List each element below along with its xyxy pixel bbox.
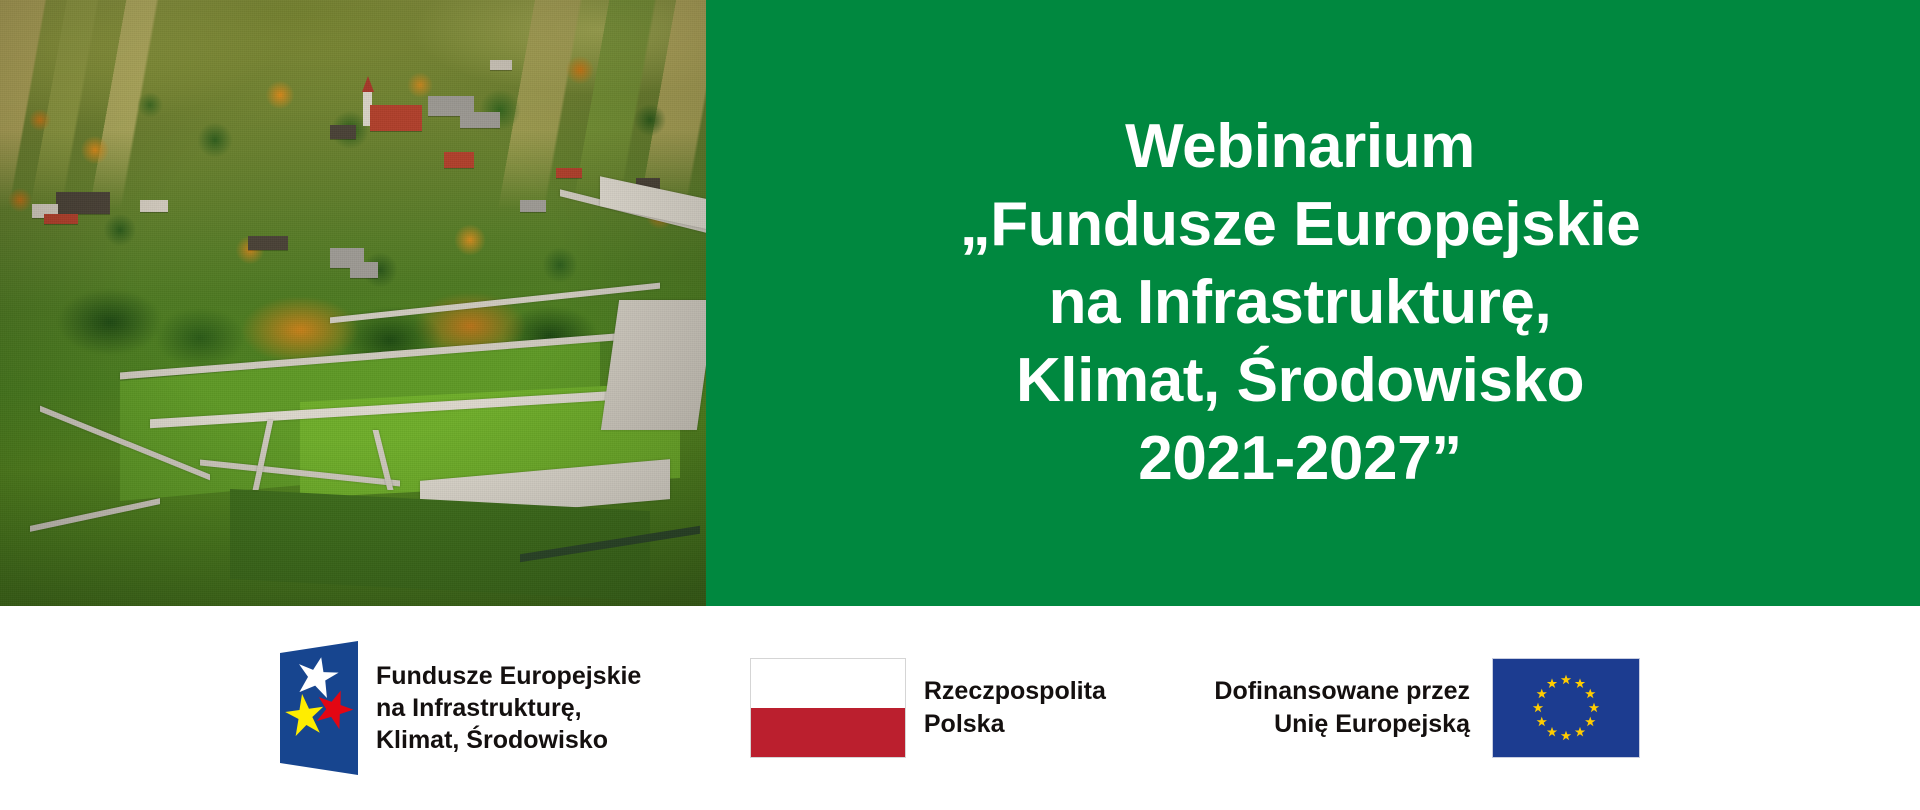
eu-label-line-1: Dofinansowane przez [1214,677,1470,705]
fe-label-line-2: na Infrastrukturę, [376,694,582,722]
fe-red-star-icon [314,687,354,731]
fe-label-line-3: Klimat, Środowisko [376,726,608,754]
eu-label-line-2: Unię Europejską [1274,710,1470,738]
banner-title: Webinarium „Fundusze Europejskie na Infr… [960,108,1667,498]
aerial-village-photo [0,0,706,606]
poland-flag-white-stripe [751,659,905,708]
pl-label-line-1: Rzeczpospolita [924,677,1106,705]
fundusze-europejskie-label: Fundusze Europejskie na Infrastrukturę, … [376,660,641,756]
title-line-2: „Fundusze Europejskie [960,186,1641,264]
rzeczpospolita-polska-label: Rzeczpospolita Polska [924,675,1106,741]
logo-rzeczpospolita-polska: Rzeczpospolita Polska [750,658,1106,758]
poland-flag-icon [750,658,906,758]
fe-label-line-1: Fundusze Europejskie [376,662,641,690]
title-line-1: Webinarium [960,108,1641,186]
logo-row: Fundusze Europejskie na Infrastrukturę, … [220,641,1700,775]
title-line-4: Klimat, Środowisko [960,342,1641,420]
fundusze-europejskie-stars-logo-icon [280,641,358,775]
unia-europejska-label: Dofinansowane przez Unię Europejską [1214,675,1470,741]
photo-vignette-overlay [0,0,706,606]
green-title-panel: Webinarium „Fundusze Europejskie na Infr… [706,0,1920,606]
poland-flag-red-stripe [751,708,905,757]
logo-unia-europejska: Dofinansowane przez Unię Europejską [1214,658,1640,758]
european-union-flag-icon [1492,658,1640,758]
pl-label-line-2: Polska [924,710,1005,738]
banner-top-band: Webinarium „Fundusze Europejskie na Infr… [0,0,1920,606]
webinar-banner: Webinarium „Fundusze Europejskie na Infr… [0,0,1920,810]
eu-funding-logo-strip: Fundusze Europejskie na Infrastrukturę, … [0,606,1920,810]
title-line-3: na Infrastrukturę, [960,264,1641,342]
title-line-5: 2021-2027” [960,420,1641,498]
logo-fundusze-europejskie: Fundusze Europejskie na Infrastrukturę, … [280,641,641,775]
